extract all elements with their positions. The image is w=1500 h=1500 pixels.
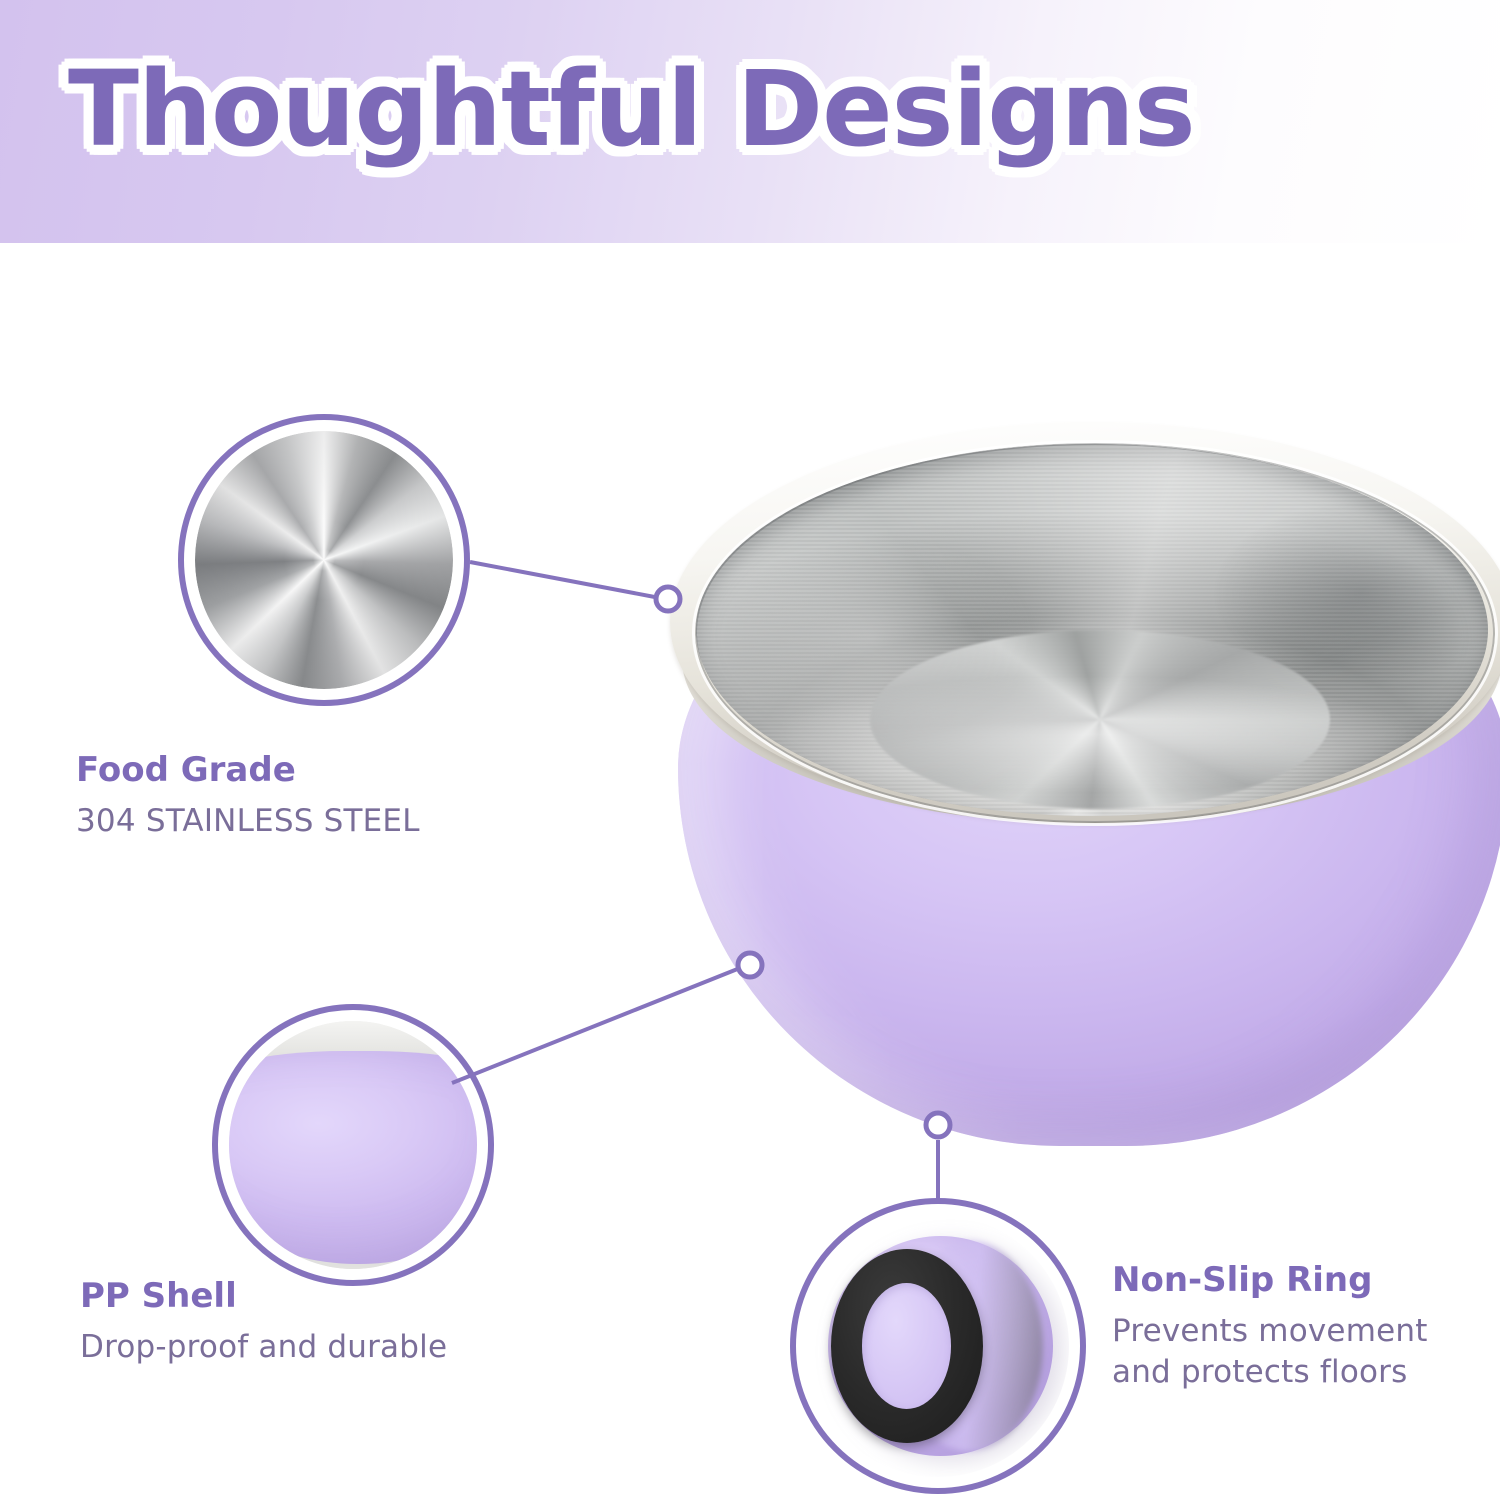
callout-circle-food-grade [178, 414, 470, 706]
connector-line-food-grade [470, 562, 660, 598]
feature-title-pp-shell: PP Shell [80, 1278, 600, 1315]
feature-desc-food-grade: 304 STAINLESS STEEL [76, 801, 596, 842]
infographic-canvas: Thoughtful Designs [0, 0, 1500, 1500]
feature-pp-shell: PP Shell Drop-proof and durable [80, 1278, 600, 1368]
feature-food-grade: Food Grade 304 STAINLESS STEEL [76, 752, 596, 842]
shell-lavender-surface [229, 1051, 477, 1264]
callout-circle-pp-shell [212, 1004, 494, 1286]
product-bowl-image [648, 408, 1500, 1168]
bowl-inner-rim-ring [692, 440, 1498, 826]
base-inner-disc [862, 1283, 951, 1409]
callout-circle-non-slip-ring [790, 1198, 1086, 1494]
page-title: Thoughtful Designs [68, 48, 1195, 170]
pp-shell-closeup-icon [229, 1021, 477, 1269]
feature-title-food-grade: Food Grade [76, 752, 596, 789]
feature-non-slip-ring: Non-Slip Ring Prevents movement and prot… [1112, 1262, 1482, 1393]
feature-desc-pp-shell: Drop-proof and durable [80, 1327, 600, 1368]
steel-disc-icon [195, 431, 453, 689]
non-slip-ring-icon [807, 1215, 1069, 1477]
feature-title-non-slip-ring: Non-Slip Ring [1112, 1262, 1482, 1299]
steel-disc-vignette [195, 431, 453, 689]
feature-desc-non-slip-ring: Prevents movement and protects floors [1112, 1311, 1482, 1393]
